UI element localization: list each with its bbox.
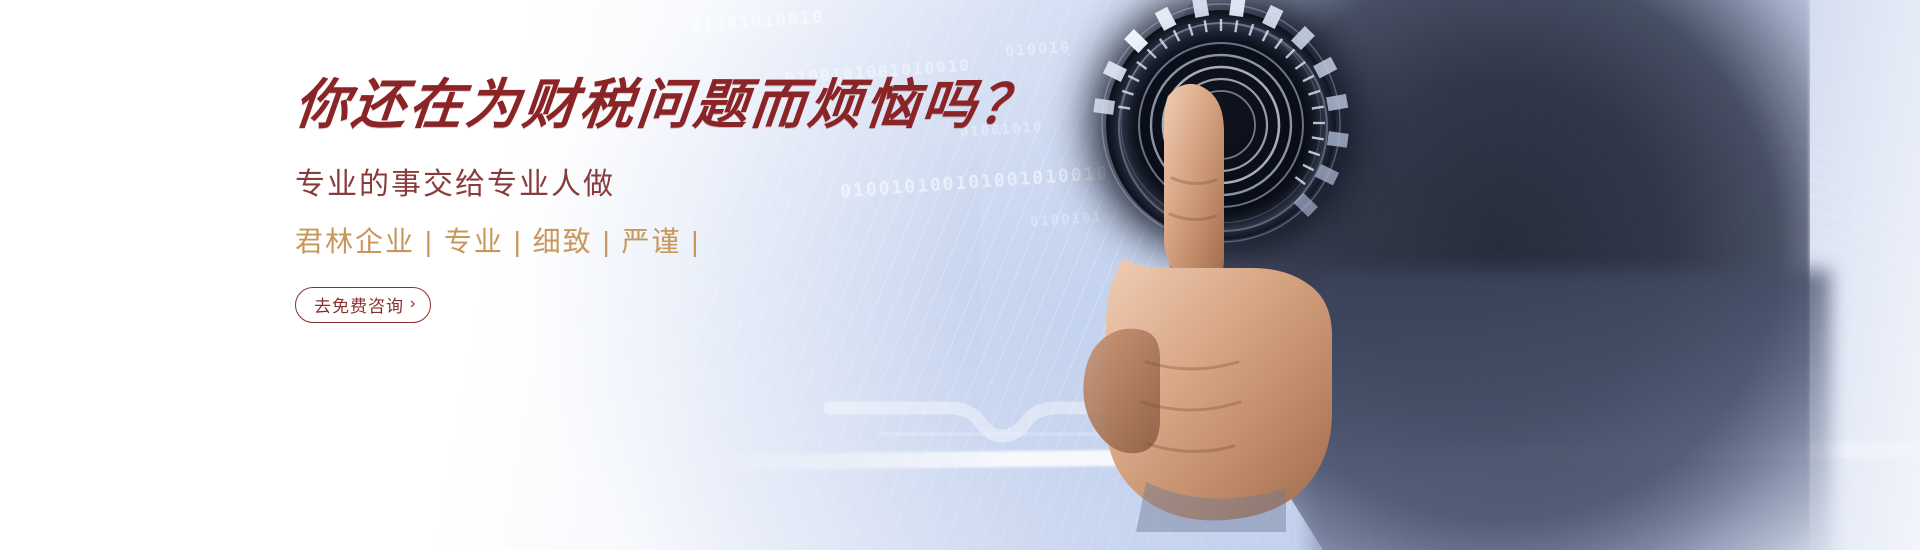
hero-banner: 01001010010 010010 0100101001010010 0100… [0, 0, 1920, 550]
page-title: 你还在为财税问题而烦恼吗？ [292, 76, 998, 133]
banner-subtitle: 专业的事交给专业人做 [295, 167, 995, 203]
banner-tagline: 君林企业 | 专业 | 细致 | 严谨 | [295, 225, 995, 259]
cta-label: 去免费咨询 [314, 292, 404, 317]
chevron-right-icon: › [410, 296, 416, 312]
free-consultation-button[interactable]: 去免费咨询 › [295, 287, 431, 323]
banner-content: 你还在为财税问题而烦恼吗？ 专业的事交给专业人做 君林企业 | 专业 | 细致 … [295, 76, 995, 323]
